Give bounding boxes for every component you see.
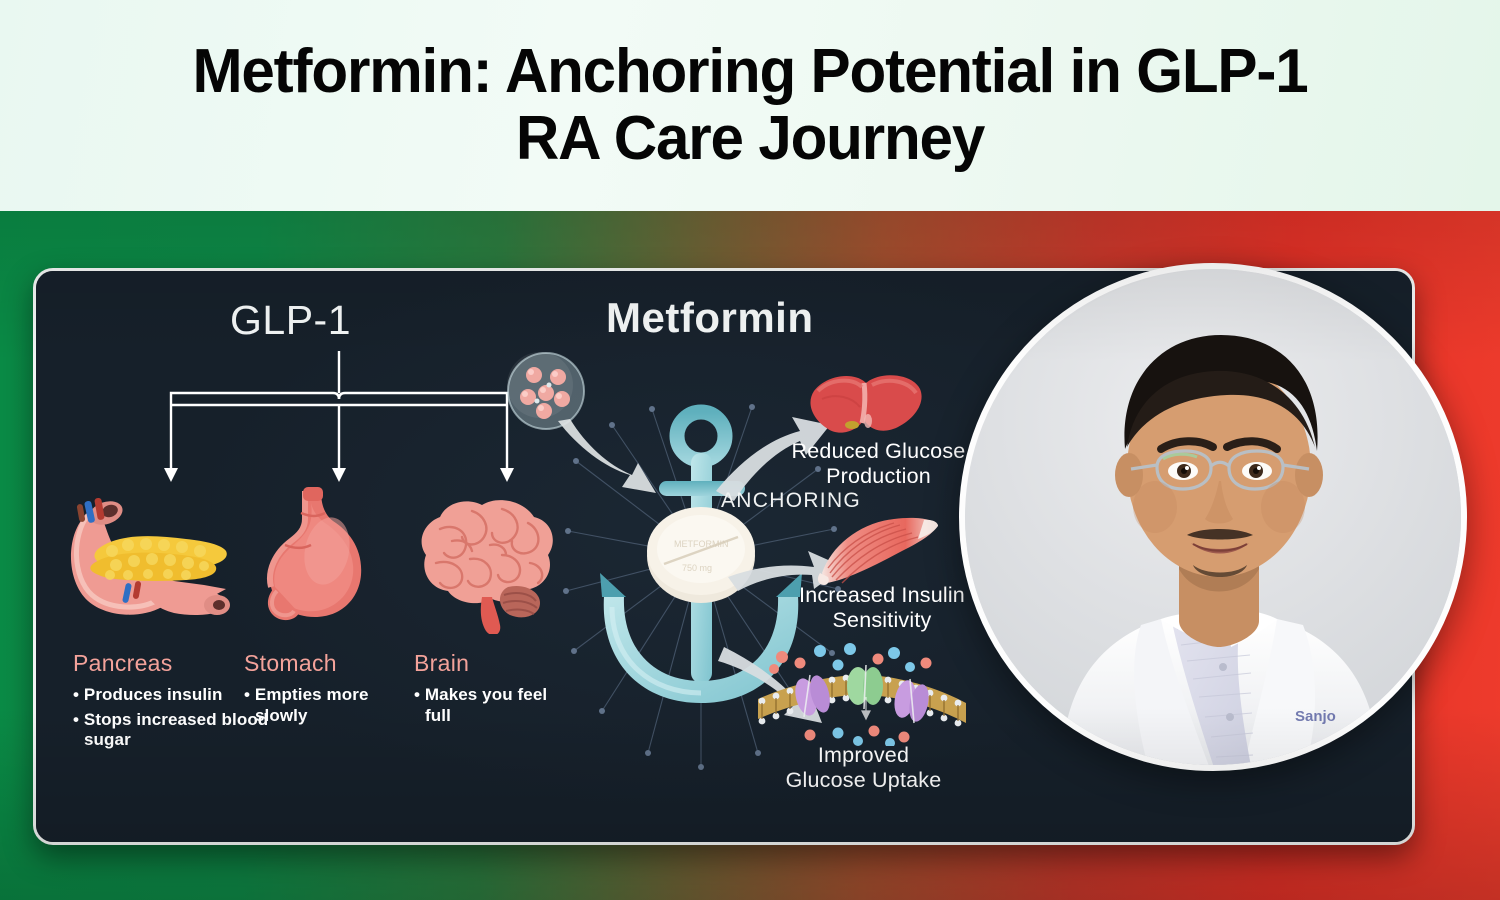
anchoring-label: ANCHORING bbox=[721, 489, 861, 513]
muscle-illustration bbox=[816, 511, 941, 589]
metformin-section-title: Metformin bbox=[606, 294, 814, 342]
page-header: Metformin: Anchoring Potential in GLP-1 … bbox=[0, 0, 1500, 211]
organ-label-brain: Brain bbox=[414, 650, 574, 677]
effect-label-liver: Reduced Glucose Production bbox=[771, 439, 986, 488]
glp1-section-title: GLP-1 bbox=[230, 297, 351, 344]
svg-text:750 mg: 750 mg bbox=[682, 563, 712, 573]
pancreas-illustration bbox=[54, 489, 244, 629]
liver-illustration bbox=[806, 369, 926, 444]
organ-bullets-pancreas: Produces insulin Stops increased blood s… bbox=[73, 685, 273, 751]
glp1-column-stomach: Stomach Empties more slowly bbox=[244, 646, 414, 730]
organ-label-stomach: Stomach bbox=[244, 650, 414, 677]
bullet-item: Stops increased blood sugar bbox=[73, 710, 273, 751]
organ-bullets-stomach: Empties more slowly bbox=[244, 685, 414, 726]
brain-illustration bbox=[406, 489, 561, 634]
organ-bullets-brain: Makes you feel full bbox=[414, 685, 574, 726]
organ-label-pancreas: Pancreas bbox=[73, 650, 273, 677]
doctor-portrait-image: Sanjo bbox=[965, 269, 1467, 771]
svg-text:Sanjo: Sanjo bbox=[1295, 708, 1336, 725]
bullet-item: Produces insulin bbox=[73, 685, 273, 706]
glp1-column-brain: Brain Makes you feel full bbox=[414, 646, 574, 730]
page-title: Metformin: Anchoring Potential in GLP-1 … bbox=[56, 39, 1443, 173]
svg-text:METFORMIN: METFORMIN bbox=[674, 539, 729, 549]
bullet-item: Makes you feel full bbox=[414, 685, 574, 726]
glp1-column-pancreas: Pancreas Produces insulin Stops increase… bbox=[73, 646, 273, 755]
gradient-background: GLP-1 bbox=[0, 211, 1500, 900]
effect-label-muscle: Increased Insulin Sensitivity bbox=[771, 583, 993, 632]
cell-membrane-illustration bbox=[754, 641, 969, 746]
glp1-bracket-connectors bbox=[91, 351, 561, 496]
bullet-item: Empties more slowly bbox=[244, 685, 414, 726]
effect-label-uptake: Improved Glucose Uptake bbox=[756, 743, 971, 792]
stomach-illustration bbox=[241, 483, 391, 633]
doctor-portrait: Sanjo bbox=[959, 263, 1467, 771]
